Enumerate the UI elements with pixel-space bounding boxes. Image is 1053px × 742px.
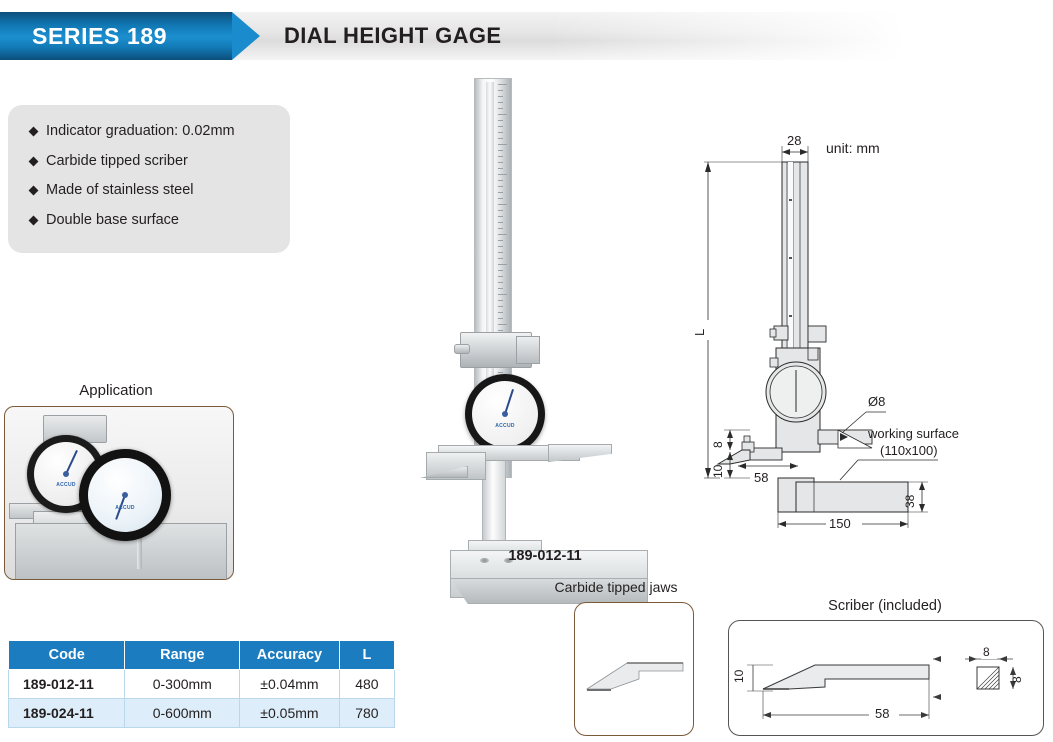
diamond-bullet-icon [29, 127, 39, 137]
dial-brand-mark: ACCUD [56, 482, 76, 488]
dim-total-height-L: L [692, 329, 707, 336]
dim-hole-diameter: Ø8 [868, 394, 885, 409]
page-title: DIAL HEIGHT GAGE [284, 12, 501, 60]
label-working-surface-line2: (110x100) [880, 443, 938, 458]
dim-column-width: 28 [787, 133, 801, 148]
feature-text: Indicator graduation: 0.02mm [46, 123, 235, 140]
feature-text: Carbide tipped scriber [46, 153, 188, 170]
dial-hub [63, 471, 69, 477]
feature-text: Double base surface [46, 212, 179, 229]
cell-l: 480 [339, 670, 394, 699]
carbide-jaws-label: Carbide tipped jaws [516, 579, 716, 595]
cell-accuracy: ±0.05mm [240, 699, 340, 728]
dim-jaw-height: 8 [711, 441, 725, 448]
cell-accuracy: ±0.04mm [240, 670, 340, 699]
column-header-l: L [339, 641, 394, 670]
dim-base-length: 150 [829, 516, 851, 530]
column-header-code: Code [9, 641, 125, 670]
product-dial-gauge: ACCUD [465, 374, 545, 454]
diamond-bullet-icon [29, 216, 39, 226]
application-photo: ACCUD ACCUD [4, 406, 234, 580]
cell-l: 780 [339, 699, 394, 728]
feature-list: Indicator graduation: 0.02mm Carbide tip… [8, 105, 290, 229]
list-item: Made of stainless steel [30, 182, 290, 199]
dial-brand-mark: ACCUD [115, 505, 135, 511]
table-row: 189-012-11 0-300mm ±0.04mm 480 [9, 670, 395, 699]
specification-table: Code Range Accuracy L 189-012-11 0-300mm… [8, 640, 395, 728]
dial-brand-mark: ACCUD [495, 423, 515, 429]
product-fine-adjust [516, 336, 540, 364]
dial-face: ACCUD [472, 381, 538, 447]
scriber-dim-height: 10 [732, 669, 746, 683]
dial-hub [122, 492, 128, 498]
cell-range: 0-300mm [125, 670, 240, 699]
scriber-drawing: 10 58 8 8 [729, 621, 1043, 735]
diamond-bullet-icon [29, 186, 39, 196]
scriber-dim-length: 58 [875, 706, 889, 721]
column-header-accuracy: Accuracy [240, 641, 340, 670]
column-header-range: Range [125, 641, 240, 670]
scriber-panel: 10 58 8 8 [728, 620, 1044, 736]
product-lock-screw [454, 344, 470, 354]
dim-jaw-length: 58 [754, 470, 768, 485]
dimension-drawing: 28 L Ø8 8 [690, 130, 1053, 530]
list-item: Double base surface [30, 212, 290, 229]
scriber-dim-section-w: 8 [983, 645, 990, 659]
application-label: Application [0, 382, 232, 399]
feature-text: Made of stainless steel [46, 182, 194, 199]
diamond-bullet-icon [29, 156, 39, 166]
product-caption: 189-012-11 [420, 548, 670, 564]
carbide-jaw-drawing [583, 655, 687, 695]
carbide-jaws-panel [574, 602, 694, 736]
list-item: Carbide tipped scriber [30, 153, 290, 170]
dial-face: ACCUD [88, 458, 162, 532]
page-header: SERIES 189 DIAL HEIGHT GAGE [0, 12, 1053, 60]
app-dial-gauge-right: ACCUD [79, 449, 171, 541]
dial-hub [502, 411, 508, 417]
scriber-dim-section-h: 8 [1010, 676, 1024, 683]
cell-code: 189-024-11 [9, 699, 125, 728]
scriber-panel-label: Scriber (included) [730, 598, 1040, 614]
label-working-surface-line1: working surface [867, 426, 959, 441]
feature-list-box: Indicator graduation: 0.02mm Carbide tip… [8, 105, 290, 253]
dim-base-height: 38 [903, 494, 917, 508]
table-row: 189-024-11 0-600mm ±0.05mm 780 [9, 699, 395, 728]
dim-jaw-offset: 10 [711, 464, 725, 478]
product-scriber [548, 444, 612, 462]
technical-drawing: 28 L Ø8 8 [690, 130, 1053, 530]
product-photo: ACCUD [420, 70, 670, 540]
cell-range: 0-600mm [125, 699, 240, 728]
banner-arrow-icon [232, 12, 260, 60]
list-item: Indicator graduation: 0.02mm [30, 123, 290, 140]
table-header-row: Code Range Accuracy L [9, 641, 395, 670]
series-label: SERIES 189 [32, 12, 167, 60]
cell-code: 189-012-11 [9, 670, 125, 699]
